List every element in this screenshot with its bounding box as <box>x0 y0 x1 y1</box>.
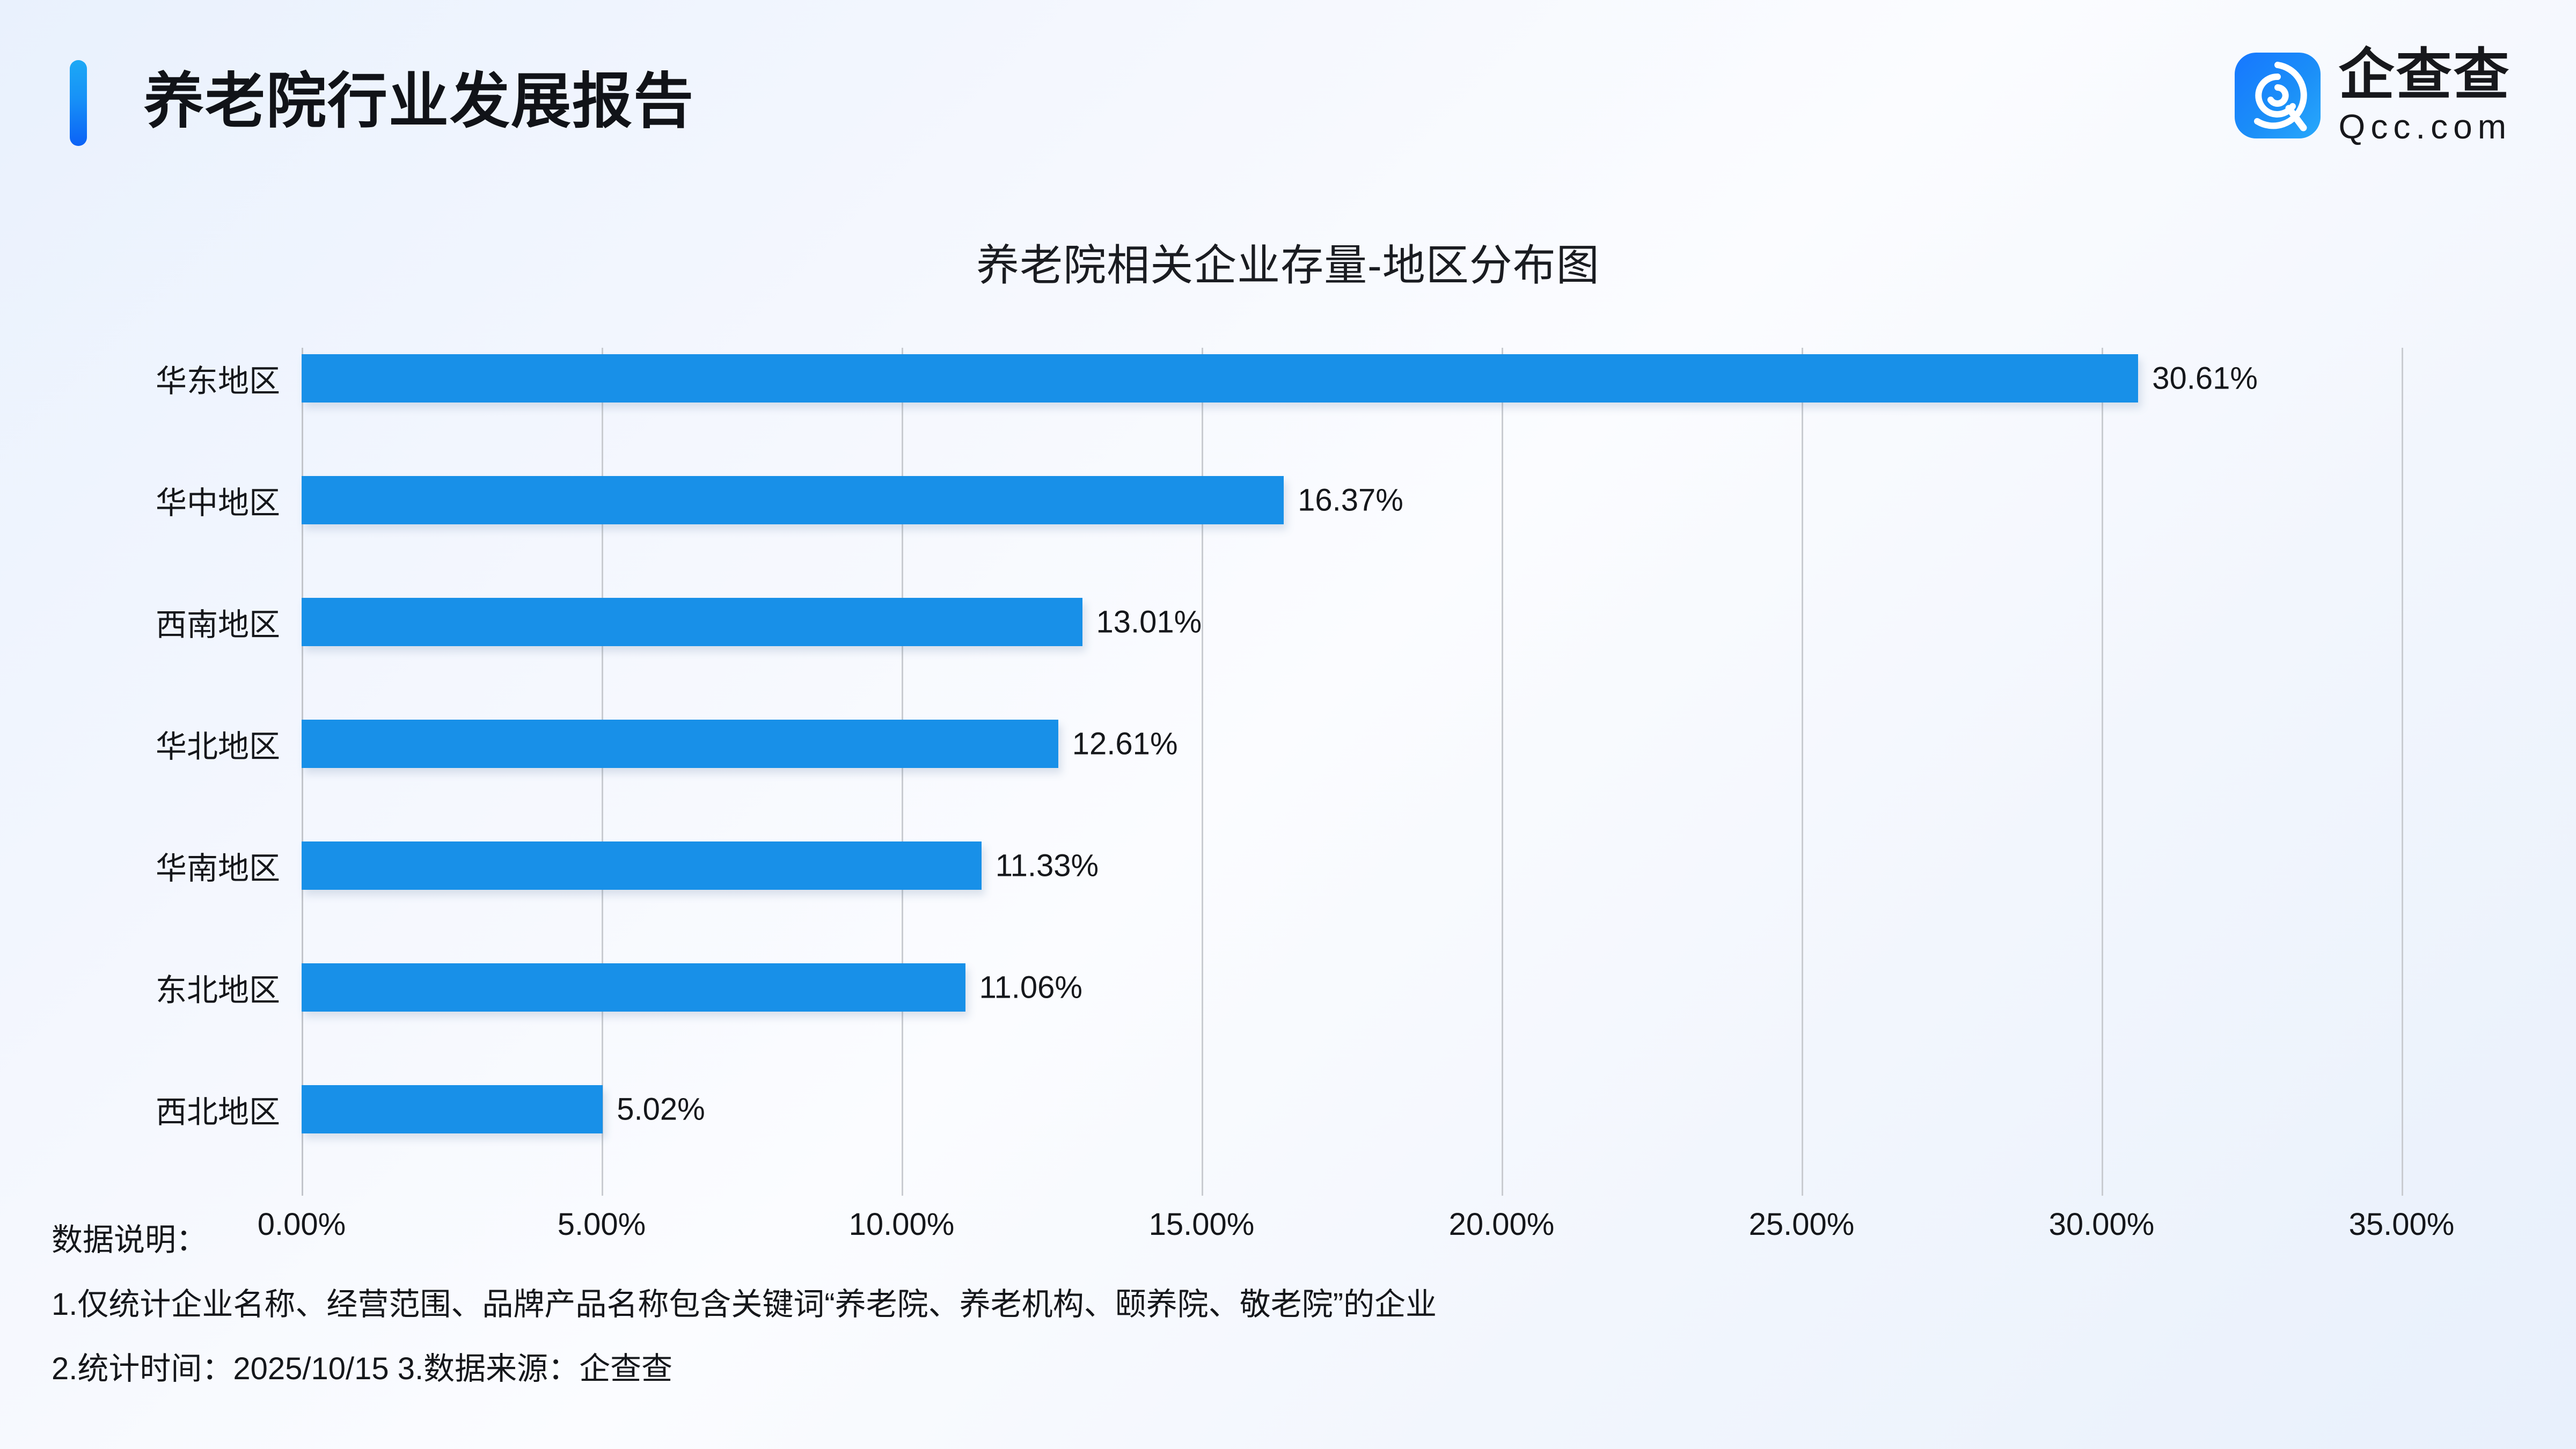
bar[interactable] <box>302 963 965 1012</box>
y-axis-category-label: 华北地区 <box>55 721 280 766</box>
bar-value-label: 11.06% <box>979 970 1082 1006</box>
brand-name-en: Qcc.com <box>2339 109 2512 144</box>
y-axis-category-label: 华东地区 <box>55 356 280 401</box>
bar-row[interactable]: 30.61%华东地区 <box>302 354 2402 402</box>
page-header: 养老院行业发展报告 企查查 Qcc.com <box>0 0 2576 204</box>
gridline <box>902 348 903 1196</box>
bar-row[interactable]: 11.06%东北地区 <box>302 963 2402 1012</box>
notes-prefix: 数据说明： <box>52 1225 2520 1256</box>
bar-value-label: 16.37% <box>1298 482 1403 518</box>
bar-row[interactable]: 12.61%华北地区 <box>302 720 2402 768</box>
brand-logo: 企查查 Qcc.com <box>2235 47 2512 144</box>
bar-row[interactable]: 5.02%西北地区 <box>302 1085 2402 1133</box>
bar[interactable] <box>302 598 1082 646</box>
gridline <box>1502 348 1503 1196</box>
bar-row[interactable]: 11.33%华南地区 <box>302 841 2402 890</box>
y-axis-category-label: 东北地区 <box>55 965 280 1010</box>
bar-value-label: 30.61% <box>2152 361 2258 397</box>
chart-title: 养老院相关企业存量-地区分布图 <box>0 231 2576 293</box>
bar[interactable] <box>302 354 2138 402</box>
y-axis-line <box>302 348 303 1196</box>
bar-row[interactable]: 13.01%西南地区 <box>302 598 2402 646</box>
y-axis-category-label: 华中地区 <box>55 478 280 523</box>
bar-value-label: 11.33% <box>996 848 1099 884</box>
bar[interactable] <box>302 720 1058 768</box>
title-accent-bar <box>70 60 87 146</box>
data-notes: 数据说明： 1.仅统计企业名称、经营范围、品牌产品名称包含关键词“养老院、养老机… <box>52 1225 2520 1385</box>
bar[interactable] <box>302 476 1284 524</box>
brand-name-cn: 企查查 <box>2339 47 2512 103</box>
y-axis-category-label: 西南地区 <box>55 599 280 645</box>
bar-row[interactable]: 16.37%华中地区 <box>302 476 2402 524</box>
chart-plot-area: 0.00%5.00%10.00%15.00%20.00%25.00%30.00%… <box>302 348 2402 1196</box>
y-axis-category-label: 西北地区 <box>55 1087 280 1132</box>
bar-value-label: 12.61% <box>1072 726 1178 762</box>
gridline <box>1802 348 1803 1196</box>
bar[interactable] <box>302 841 982 890</box>
note-line-2: 2.统计时间：2025/10/15 3.数据来源：企查查 <box>52 1353 2520 1385</box>
gridline <box>602 348 603 1196</box>
page-title: 养老院行业发展报告 <box>144 58 694 145</box>
note-line-1: 1.仅统计企业名称、经营范围、品牌产品名称包含关键词“养老院、养老机构、颐养院、… <box>52 1289 2520 1320</box>
gridline <box>1202 348 1203 1196</box>
bar-value-label: 13.01% <box>1096 604 1202 640</box>
bar-value-label: 5.02% <box>617 1092 705 1128</box>
y-axis-category-label: 华南地区 <box>55 843 280 888</box>
qcc-spiral-q-icon <box>2235 53 2321 138</box>
gridline <box>2102 348 2103 1196</box>
bar[interactable] <box>302 1085 603 1133</box>
gridline <box>2402 348 2403 1196</box>
